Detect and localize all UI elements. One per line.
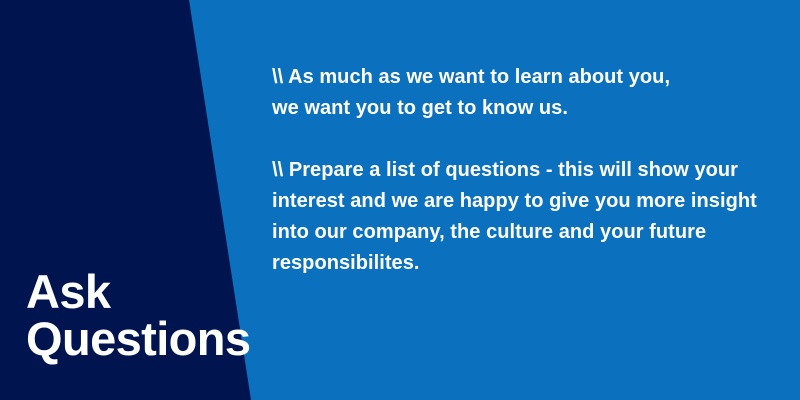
body-line: \\ As much as we want to learn about you… xyxy=(272,62,788,93)
heading-line-2: Questions xyxy=(26,315,250,362)
body-line: \\ Prepare a list of questions - this wi… xyxy=(272,155,788,186)
slide-body: \\ As much as we want to learn about you… xyxy=(272,62,788,279)
body-paragraph-1: \\ As much as we want to learn about you… xyxy=(272,62,788,124)
slide-heading: Ask Questions xyxy=(26,268,250,362)
body-line: we want you to get to know us. xyxy=(272,93,788,124)
body-paragraph-2: \\ Prepare a list of questions - this wi… xyxy=(272,155,788,279)
body-line: into our company, the culture and your f… xyxy=(272,217,788,248)
body-line: responsibilites. xyxy=(272,248,788,279)
heading-line-1: Ask xyxy=(26,268,250,315)
body-line: interest and we are happy to give you mo… xyxy=(272,186,788,217)
slide-canvas: Ask Questions \\ As much as we want to l… xyxy=(0,0,800,400)
